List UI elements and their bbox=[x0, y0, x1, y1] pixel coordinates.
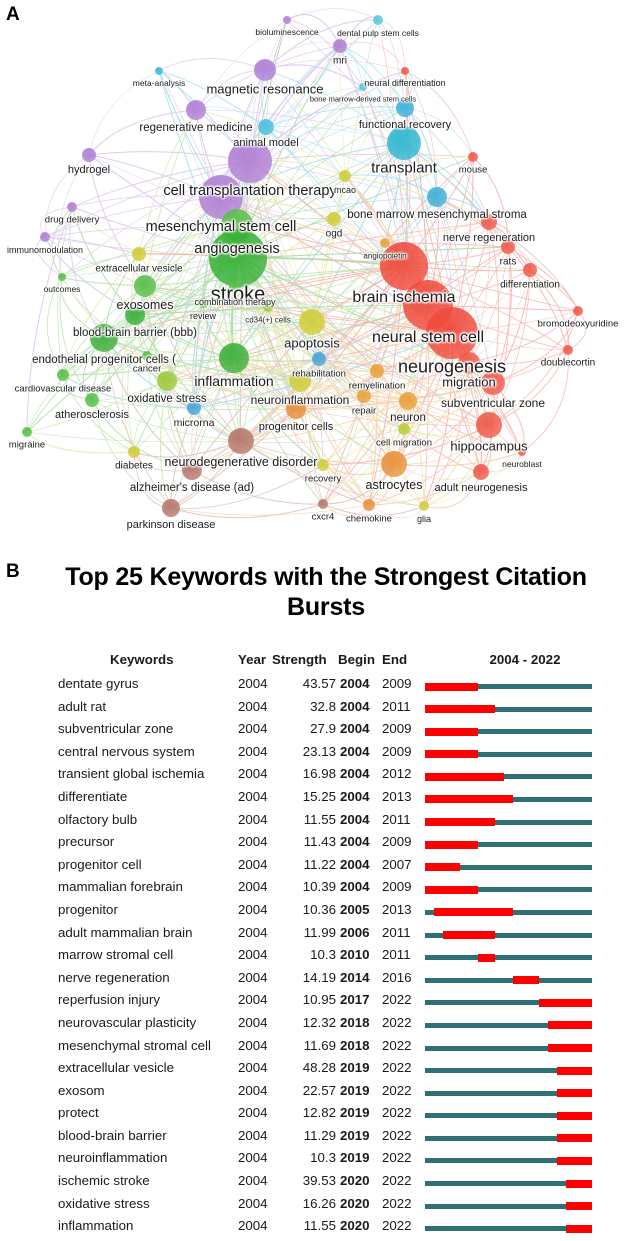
network-node bbox=[333, 39, 347, 53]
network-node bbox=[473, 464, 489, 480]
burst-timeline bbox=[425, 752, 592, 757]
burst-timeline bbox=[425, 1091, 592, 1096]
timeline-burst-bar bbox=[548, 1021, 592, 1029]
burst-table-title: Top 25 Keywords with the Strongest Citat… bbox=[36, 563, 616, 622]
row-begin: 2019 bbox=[340, 1150, 376, 1165]
timeline-burst-bar bbox=[425, 773, 504, 781]
row-keyword: transient global ischemia bbox=[58, 766, 240, 781]
row-begin: 2004 bbox=[340, 789, 376, 804]
burst-timeline bbox=[425, 1046, 592, 1051]
network-node bbox=[426, 307, 478, 359]
row-year: 2004 bbox=[238, 1060, 278, 1075]
row-keyword: exosom bbox=[58, 1083, 240, 1098]
network-node bbox=[128, 446, 140, 458]
row-keyword: precursor bbox=[58, 834, 240, 849]
row-end: 2022 bbox=[382, 1105, 418, 1120]
row-begin: 2004 bbox=[340, 766, 376, 781]
timeline-burst-bar bbox=[425, 683, 478, 691]
header-span: 2004 - 2022 bbox=[425, 652, 625, 667]
network-node bbox=[289, 370, 311, 392]
row-end: 2009 bbox=[382, 676, 418, 691]
network-node bbox=[523, 263, 537, 277]
row-begin: 2004 bbox=[340, 744, 376, 759]
row-end: 2007 bbox=[382, 857, 418, 872]
table-row: subventricular zone200427.920042009 bbox=[0, 719, 642, 742]
network-node bbox=[481, 371, 505, 395]
row-keyword: protect bbox=[58, 1105, 240, 1120]
burst-timeline bbox=[425, 978, 592, 983]
row-begin: 2020 bbox=[340, 1218, 376, 1233]
row-year: 2004 bbox=[238, 879, 278, 894]
row-year: 2004 bbox=[238, 1218, 278, 1233]
row-year: 2004 bbox=[238, 699, 278, 714]
table-row: olfactory bulb200411.5520042011 bbox=[0, 810, 642, 833]
network-node bbox=[283, 16, 291, 24]
network-node bbox=[132, 247, 146, 261]
row-strength: 16.98 bbox=[276, 766, 336, 781]
network-node bbox=[339, 170, 351, 182]
network-node bbox=[57, 369, 69, 381]
table-row: extracellular vesicle200448.2820192022 bbox=[0, 1058, 642, 1081]
table-header-row: Keywords Year Strength Begin End 2004 - … bbox=[0, 650, 642, 674]
network-node bbox=[317, 459, 329, 471]
row-end: 2022 bbox=[382, 1218, 418, 1233]
network-node bbox=[58, 273, 66, 281]
table-row: reperfusion injury200410.9520172022 bbox=[0, 990, 642, 1013]
row-strength: 11.69 bbox=[276, 1038, 336, 1053]
header-strength: Strength bbox=[272, 652, 334, 667]
timeline-burst-bar bbox=[557, 1089, 592, 1097]
row-keyword: progenitor bbox=[58, 902, 240, 917]
row-keyword: neurovascular plasticity bbox=[58, 1015, 240, 1030]
network-graph-svg bbox=[0, 0, 642, 545]
network-node bbox=[228, 428, 254, 454]
timeline-base-bar bbox=[425, 978, 592, 983]
network-node bbox=[258, 119, 274, 135]
row-end: 2016 bbox=[382, 970, 418, 985]
panel-b-label: B bbox=[6, 561, 20, 583]
row-year: 2004 bbox=[238, 676, 278, 691]
row-year: 2004 bbox=[238, 992, 278, 1007]
network-node bbox=[318, 499, 328, 509]
network-node bbox=[85, 393, 99, 407]
network-node bbox=[299, 309, 325, 335]
row-strength: 11.29 bbox=[276, 1128, 336, 1143]
table-row: progenitor200410.3620052013 bbox=[0, 900, 642, 923]
network-node bbox=[468, 152, 478, 162]
network-node bbox=[22, 427, 32, 437]
network-node bbox=[263, 302, 273, 312]
network-node bbox=[357, 389, 371, 403]
row-strength: 22.57 bbox=[276, 1083, 336, 1098]
burst-timeline bbox=[425, 729, 592, 734]
row-begin: 2005 bbox=[340, 902, 376, 917]
network-node bbox=[327, 212, 341, 226]
network-node bbox=[155, 67, 163, 75]
row-begin: 2019 bbox=[340, 1060, 376, 1075]
row-year: 2004 bbox=[238, 766, 278, 781]
network-node bbox=[312, 352, 326, 366]
network-node bbox=[142, 351, 152, 361]
row-strength: 10.39 bbox=[276, 879, 336, 894]
row-year: 2004 bbox=[238, 925, 278, 940]
row-strength: 15.25 bbox=[276, 789, 336, 804]
row-end: 2022 bbox=[382, 1173, 418, 1188]
row-strength: 11.55 bbox=[276, 1218, 336, 1233]
row-strength: 11.43 bbox=[276, 834, 336, 849]
row-begin: 2019 bbox=[340, 1128, 376, 1143]
row-end: 2009 bbox=[382, 879, 418, 894]
row-end: 2022 bbox=[382, 1196, 418, 1211]
row-keyword: mesenchymal stromal cell bbox=[58, 1038, 240, 1053]
row-year: 2004 bbox=[238, 902, 278, 917]
row-year: 2004 bbox=[238, 1128, 278, 1143]
row-keyword: progenitor cell bbox=[58, 857, 240, 872]
row-end: 2022 bbox=[382, 1038, 418, 1053]
burst-timeline bbox=[425, 1158, 592, 1163]
row-begin: 2018 bbox=[340, 1015, 376, 1030]
row-strength: 11.99 bbox=[276, 925, 336, 940]
network-node bbox=[573, 306, 583, 316]
row-keyword: oxidative stress bbox=[58, 1196, 240, 1211]
burst-timeline bbox=[425, 955, 592, 960]
network-node bbox=[396, 99, 414, 117]
row-end: 2011 bbox=[382, 812, 418, 827]
row-strength: 11.22 bbox=[276, 857, 336, 872]
network-node bbox=[501, 240, 515, 254]
row-end: 2022 bbox=[382, 1083, 418, 1098]
row-strength: 10.95 bbox=[276, 992, 336, 1007]
timeline-burst-bar bbox=[548, 1044, 592, 1052]
row-keyword: neuroinflammation bbox=[58, 1150, 240, 1165]
table-row: transient global ischemia200416.98200420… bbox=[0, 764, 642, 787]
row-strength: 12.32 bbox=[276, 1015, 336, 1030]
row-year: 2004 bbox=[238, 789, 278, 804]
network-node bbox=[401, 67, 409, 75]
row-end: 2012 bbox=[382, 766, 418, 781]
table-row: dentate gyrus200443.5720042009 bbox=[0, 674, 642, 697]
burst-timeline bbox=[425, 1226, 592, 1231]
row-strength: 43.57 bbox=[276, 676, 336, 691]
network-node bbox=[563, 345, 573, 355]
network-node bbox=[387, 126, 421, 160]
row-keyword: marrow stromal cell bbox=[58, 947, 240, 962]
row-keyword: inflammation bbox=[58, 1218, 240, 1233]
row-keyword: adult mammalian brain bbox=[58, 925, 240, 940]
row-begin: 2019 bbox=[340, 1083, 376, 1098]
row-begin: 2017 bbox=[340, 992, 376, 1007]
network-node bbox=[186, 100, 206, 120]
timeline-burst-bar bbox=[443, 931, 496, 939]
row-keyword: reperfusion injury bbox=[58, 992, 240, 1007]
row-end: 2022 bbox=[382, 1128, 418, 1143]
row-strength: 10.3 bbox=[276, 947, 336, 962]
header-keywords: Keywords bbox=[110, 652, 240, 667]
table-row: precursor200411.4320042009 bbox=[0, 832, 642, 855]
row-end: 2009 bbox=[382, 834, 418, 849]
row-end: 2022 bbox=[382, 1060, 418, 1075]
burst-timeline bbox=[425, 1023, 592, 1028]
row-end: 2022 bbox=[382, 992, 418, 1007]
row-year: 2004 bbox=[238, 857, 278, 872]
network-node bbox=[381, 451, 407, 477]
table-row: blood-brain barrier200411.2920192022 bbox=[0, 1126, 642, 1149]
burst-timeline bbox=[425, 1181, 592, 1186]
row-keyword: extracellular vesicle bbox=[58, 1060, 240, 1075]
table-row: ischemic stroke200439.5320202022 bbox=[0, 1171, 642, 1194]
row-keyword: ischemic stroke bbox=[58, 1173, 240, 1188]
row-year: 2004 bbox=[238, 1038, 278, 1053]
table-row: central nervous system200423.1320042009 bbox=[0, 742, 642, 765]
row-begin: 2018 bbox=[340, 1038, 376, 1053]
network-node bbox=[370, 364, 384, 378]
row-begin: 2014 bbox=[340, 970, 376, 985]
timeline-burst-bar bbox=[425, 886, 478, 894]
timeline-burst-bar bbox=[425, 841, 478, 849]
row-keyword: nerve regeneration bbox=[58, 970, 240, 985]
timeline-burst-bar bbox=[539, 999, 592, 1007]
row-end: 2011 bbox=[382, 925, 418, 940]
network-node bbox=[198, 298, 208, 308]
timeline-burst-bar bbox=[557, 1157, 592, 1165]
burst-timeline bbox=[425, 842, 592, 847]
table-row: progenitor cell200411.2220042007 bbox=[0, 855, 642, 878]
row-strength: 12.82 bbox=[276, 1105, 336, 1120]
timeline-burst-bar bbox=[557, 1112, 592, 1120]
network-node bbox=[380, 238, 390, 248]
network-node bbox=[162, 499, 180, 517]
burst-table: Keywords Year Strength Begin End 2004 - … bbox=[0, 650, 642, 1239]
row-end: 2009 bbox=[382, 721, 418, 736]
row-year: 2004 bbox=[238, 1173, 278, 1188]
row-begin: 2004 bbox=[340, 857, 376, 872]
burst-timeline bbox=[425, 707, 592, 712]
row-begin: 2019 bbox=[340, 1105, 376, 1120]
header-end: End bbox=[382, 652, 418, 667]
row-year: 2004 bbox=[238, 1105, 278, 1120]
row-end: 2009 bbox=[382, 744, 418, 759]
header-begin: Begin bbox=[338, 652, 374, 667]
row-year: 2004 bbox=[238, 947, 278, 962]
burst-timeline bbox=[425, 1113, 592, 1118]
row-keyword: central nervous system bbox=[58, 744, 240, 759]
row-strength: 39.53 bbox=[276, 1173, 336, 1188]
network-node bbox=[286, 399, 306, 419]
timeline-burst-bar bbox=[557, 1067, 592, 1075]
network-node bbox=[399, 392, 417, 410]
row-year: 2004 bbox=[238, 721, 278, 736]
row-year: 2004 bbox=[238, 1150, 278, 1165]
panel-a-network-map: A bioluminescencedental pulp stem cellsm… bbox=[0, 0, 642, 545]
timeline-burst-bar bbox=[425, 750, 478, 758]
row-strength: 16.26 bbox=[276, 1196, 336, 1211]
row-keyword: blood-brain barrier bbox=[58, 1128, 240, 1143]
row-year: 2004 bbox=[238, 744, 278, 759]
row-year: 2004 bbox=[238, 1196, 278, 1211]
table-row: adult rat200432.820042011 bbox=[0, 697, 642, 720]
burst-timeline bbox=[425, 684, 592, 689]
row-begin: 2004 bbox=[340, 812, 376, 827]
burst-timeline bbox=[425, 1068, 592, 1073]
burst-timeline bbox=[425, 887, 592, 892]
table-row: exosom200422.5720192022 bbox=[0, 1081, 642, 1104]
burst-timeline bbox=[425, 1000, 592, 1005]
network-node bbox=[134, 275, 156, 297]
row-strength: 14.19 bbox=[276, 970, 336, 985]
network-node bbox=[125, 305, 145, 325]
network-node bbox=[182, 460, 202, 480]
table-row: neuroinflammation200410.320192022 bbox=[0, 1148, 642, 1171]
table-row: mesenchymal stromal cell200411.692018202… bbox=[0, 1036, 642, 1059]
burst-timeline bbox=[425, 1136, 592, 1141]
network-node bbox=[481, 214, 497, 230]
row-strength: 10.36 bbox=[276, 902, 336, 917]
burst-timeline bbox=[425, 797, 592, 802]
network-node bbox=[187, 401, 201, 415]
burst-timeline bbox=[425, 933, 592, 938]
timeline-burst-bar bbox=[478, 954, 496, 962]
row-year: 2004 bbox=[238, 812, 278, 827]
network-node bbox=[427, 187, 447, 207]
row-year: 2004 bbox=[238, 1015, 278, 1030]
network-node bbox=[90, 324, 118, 352]
row-begin: 2010 bbox=[340, 947, 376, 962]
row-end: 2022 bbox=[382, 1150, 418, 1165]
network-node bbox=[229, 282, 241, 294]
burst-timeline bbox=[425, 820, 592, 825]
network-node bbox=[398, 423, 410, 435]
table-row: inflammation200411.5520202022 bbox=[0, 1216, 642, 1239]
row-keyword: subventricular zone bbox=[58, 721, 240, 736]
row-keyword: dentate gyrus bbox=[58, 676, 240, 691]
timeline-burst-bar bbox=[434, 908, 513, 916]
row-strength: 48.28 bbox=[276, 1060, 336, 1075]
row-strength: 32.8 bbox=[276, 699, 336, 714]
burst-timeline bbox=[425, 774, 592, 779]
row-keyword: olfactory bulb bbox=[58, 812, 240, 827]
network-node bbox=[82, 148, 96, 162]
timeline-burst-bar bbox=[566, 1225, 592, 1233]
timeline-burst-bar bbox=[425, 863, 460, 871]
network-node bbox=[228, 139, 272, 183]
network-node bbox=[254, 59, 276, 81]
table-row: adult mammalian brain200411.9920062011 bbox=[0, 923, 642, 946]
row-begin: 2004 bbox=[340, 879, 376, 894]
row-begin: 2004 bbox=[340, 834, 376, 849]
table-row: differentiate200415.2520042013 bbox=[0, 787, 642, 810]
row-begin: 2004 bbox=[340, 721, 376, 736]
row-begin: 2004 bbox=[340, 699, 376, 714]
network-node bbox=[363, 499, 375, 511]
timeline-burst-bar bbox=[566, 1180, 592, 1188]
table-row: protect200412.8220192022 bbox=[0, 1103, 642, 1126]
row-begin: 2020 bbox=[340, 1196, 376, 1211]
row-year: 2004 bbox=[238, 1083, 278, 1098]
row-end: 2011 bbox=[382, 947, 418, 962]
row-end: 2022 bbox=[382, 1015, 418, 1030]
row-year: 2004 bbox=[238, 970, 278, 985]
panel-b-citation-bursts: B Top 25 Keywords with the Strongest Cit… bbox=[0, 545, 642, 1241]
network-node bbox=[419, 501, 429, 511]
timeline-burst-bar bbox=[425, 705, 495, 713]
row-strength: 23.13 bbox=[276, 744, 336, 759]
row-begin: 2006 bbox=[340, 925, 376, 940]
timeline-burst-bar bbox=[425, 795, 513, 803]
row-begin: 2004 bbox=[340, 676, 376, 691]
network-node bbox=[40, 232, 50, 242]
row-year: 2004 bbox=[238, 834, 278, 849]
timeline-base-bar bbox=[425, 955, 592, 960]
network-node bbox=[219, 343, 249, 373]
timeline-burst-bar bbox=[557, 1134, 592, 1142]
network-node bbox=[518, 448, 526, 456]
network-node bbox=[359, 83, 367, 91]
row-strength: 10.3 bbox=[276, 1150, 336, 1165]
row-end: 2013 bbox=[382, 902, 418, 917]
row-end: 2011 bbox=[382, 699, 418, 714]
table-row: marrow stromal cell200410.320102011 bbox=[0, 945, 642, 968]
table-row: neurovascular plasticity200412.322018202… bbox=[0, 1013, 642, 1036]
table-row: mammalian forebrain200410.3920042009 bbox=[0, 877, 642, 900]
table-row: nerve regeneration200414.1920142016 bbox=[0, 968, 642, 991]
row-keyword: adult rat bbox=[58, 699, 240, 714]
network-node bbox=[476, 412, 502, 438]
row-strength: 11.55 bbox=[276, 812, 336, 827]
row-end: 2013 bbox=[382, 789, 418, 804]
row-strength: 27.9 bbox=[276, 721, 336, 736]
burst-timeline bbox=[425, 910, 592, 915]
timeline-burst-bar bbox=[425, 818, 495, 826]
network-node bbox=[157, 371, 177, 391]
burst-timeline bbox=[425, 1204, 592, 1209]
network-node bbox=[373, 15, 383, 25]
burst-timeline bbox=[425, 865, 592, 870]
timeline-burst-bar bbox=[566, 1202, 592, 1210]
row-begin: 2020 bbox=[340, 1173, 376, 1188]
network-node bbox=[209, 229, 267, 287]
row-keyword: mammalian forebrain bbox=[58, 879, 240, 894]
timeline-burst-bar bbox=[425, 728, 478, 736]
network-node bbox=[67, 202, 77, 212]
timeline-burst-bar bbox=[513, 976, 539, 984]
table-row: oxidative stress200416.2620202022 bbox=[0, 1194, 642, 1217]
network-node bbox=[458, 352, 480, 374]
row-keyword: differentiate bbox=[58, 789, 240, 804]
